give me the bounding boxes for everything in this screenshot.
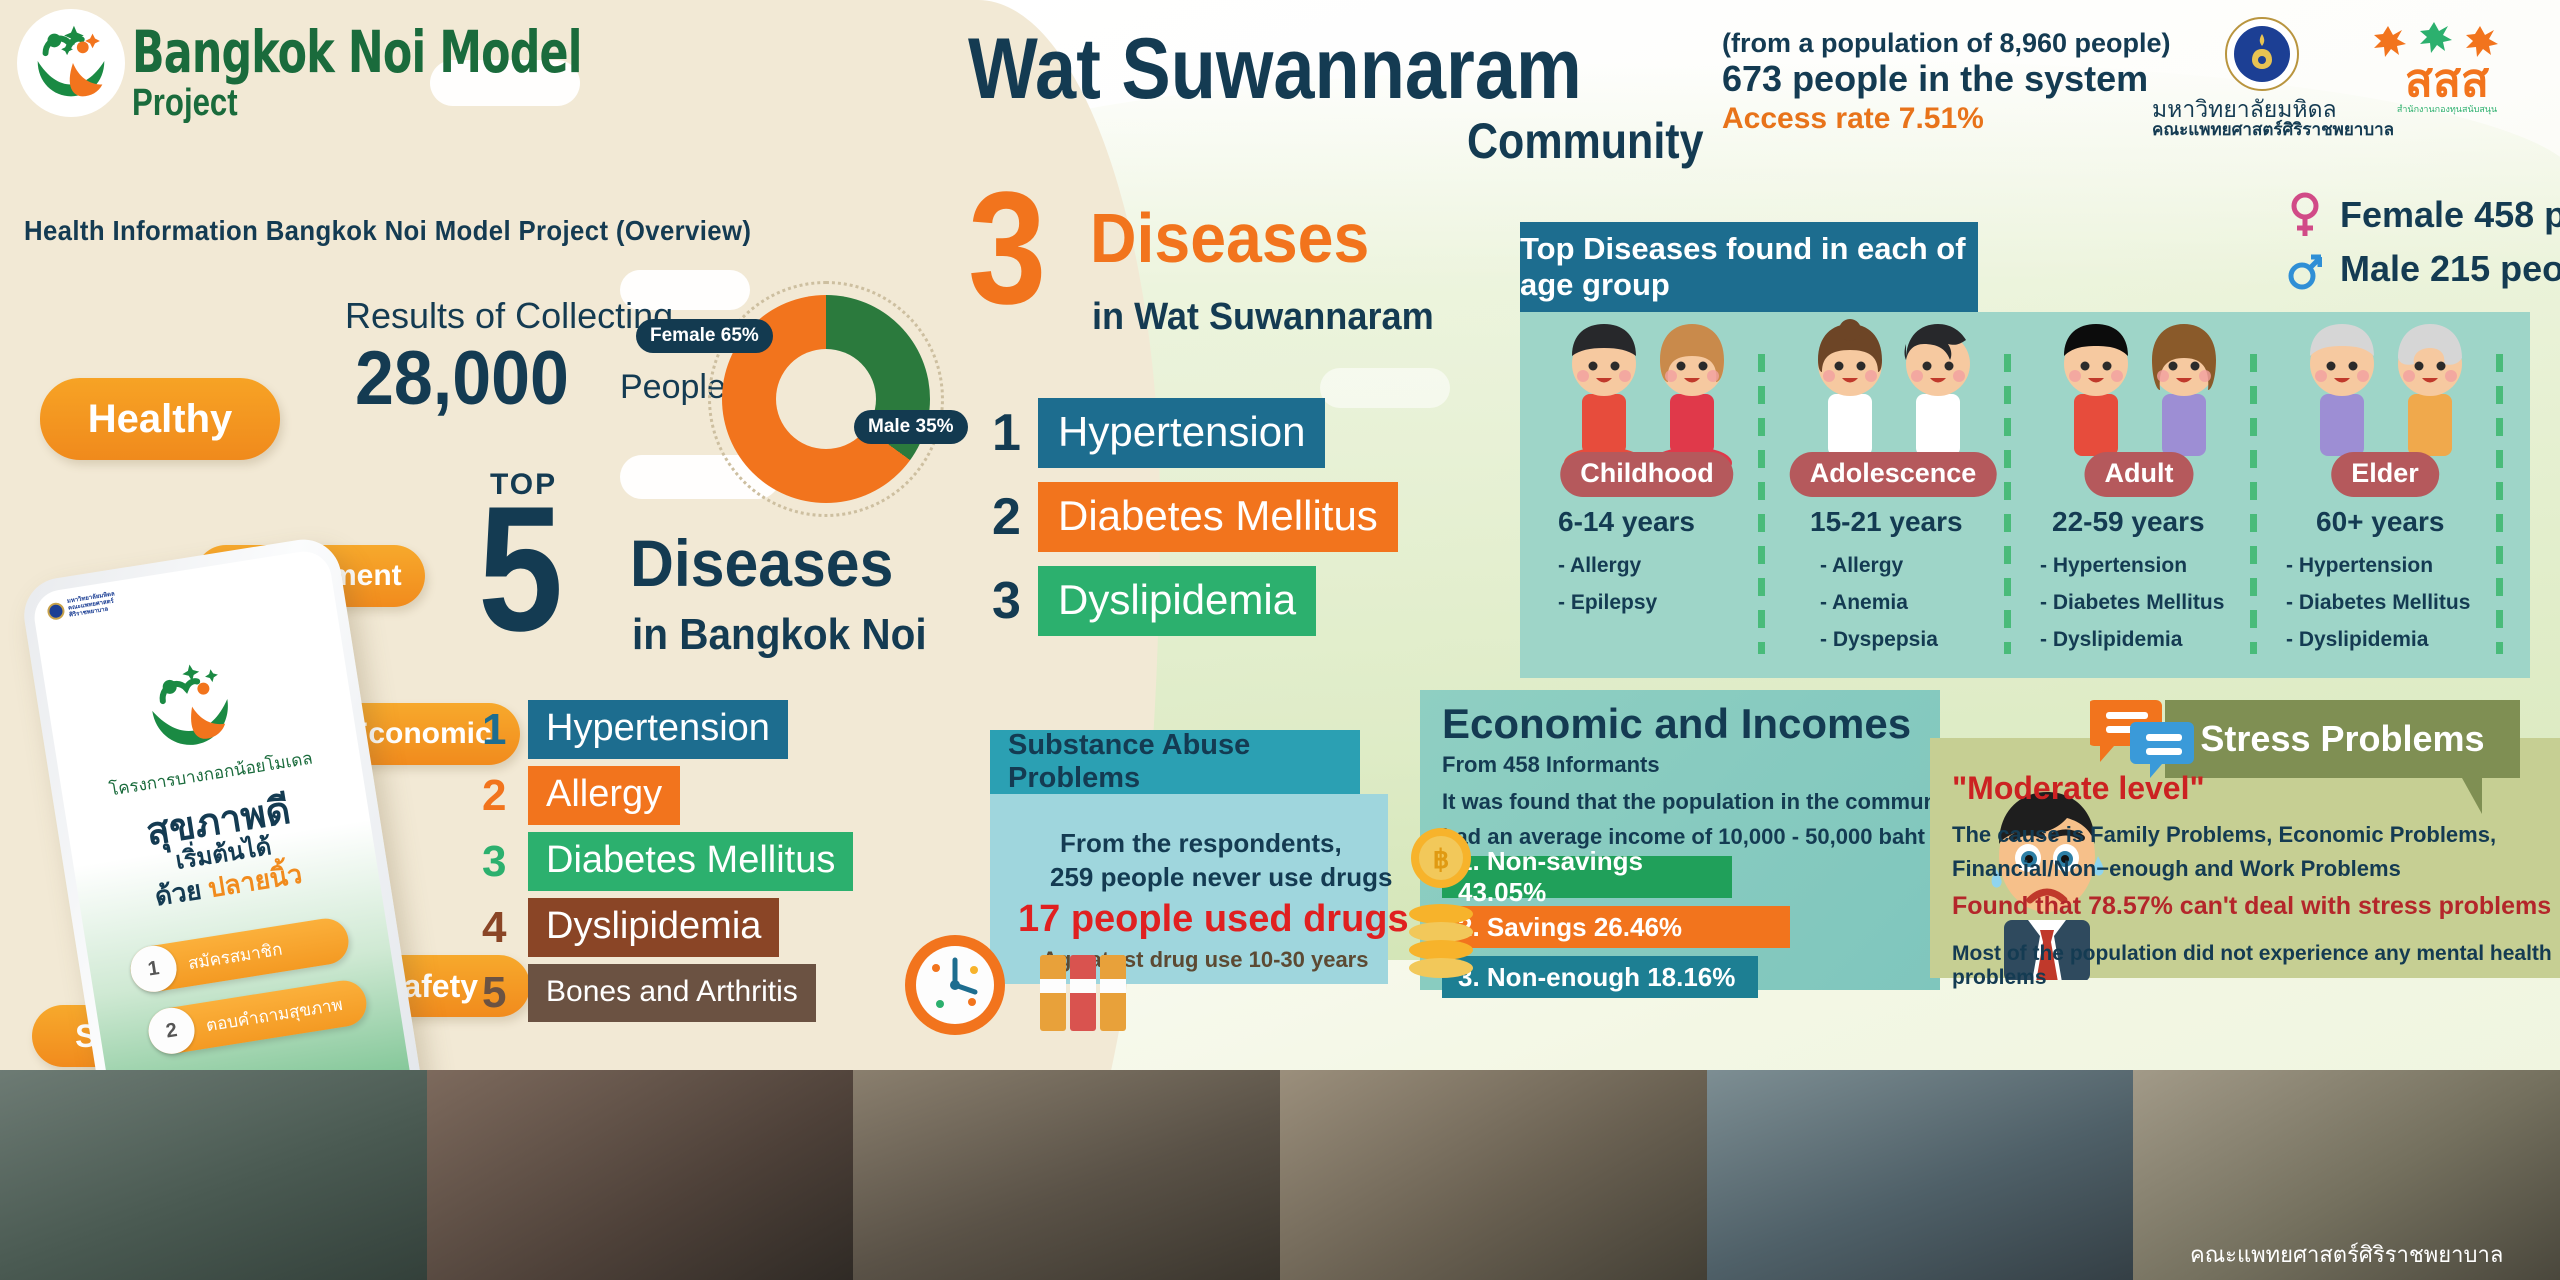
age-disease-item: - Dyslipidemia	[2286, 622, 2470, 659]
age-disease-item: - Dyspepsia	[1820, 622, 1938, 659]
age-column-childhood: Childhood 6-14 years - Allergy - Epileps…	[1534, 312, 1760, 678]
age-diseases-elder: - Hypertension - Diabetes Mellitus - Dys…	[2286, 548, 2470, 658]
economic-title: Economic and Incomes	[1442, 700, 1911, 748]
substance-line-1: From the respondents,	[1060, 828, 1342, 859]
age-disease-item: - Epilepsy	[1558, 585, 1657, 622]
three-diseases-label-3: Dyslipidemia	[1038, 566, 1316, 636]
economic-description: It was found that the population in the …	[1442, 784, 1963, 854]
svg-text:สำนักงานกองทุนสนับสนุน: สำนักงานกองทุนสนับสนุน	[2397, 104, 2497, 115]
three-diseases-item-2: 2 Diabetes Mellitus	[992, 482, 1398, 552]
substance-used-drugs: 17 people used drugs	[1018, 898, 1409, 941]
age-disease-item: - Hypertension	[2286, 548, 2470, 585]
male-gender-icon	[2288, 246, 2322, 292]
age-column-adolescence: Adolescence 15-21 years - Allergy - Anem…	[1780, 312, 2006, 678]
economic-informants: From 458 Informants	[1442, 752, 1660, 778]
access-rate: Access rate 7.51%	[1722, 102, 1984, 136]
svg-text:สสส: สสส	[2405, 54, 2490, 106]
phone-mahidol-logo-icon: มหาวิทยาลัยมหิดล คณะแพทยศาสตร์ ศิริราชพย…	[46, 591, 118, 623]
top5-rank-3: 3	[482, 837, 528, 887]
elder-figure-icon	[2282, 298, 2492, 478]
age-chip-adult: Adult	[2085, 452, 2194, 497]
folders-icon	[1036, 945, 1136, 1035]
coins-icon: ฿	[1396, 828, 1486, 988]
age-disease-item: - Anemia	[1820, 585, 1938, 622]
top5-label-5: Bones and Arthritis	[528, 964, 816, 1022]
photo-strip: คณะแพทยศาสตร์ศิริราชพยาบาล	[0, 1070, 2560, 1280]
top5-item-4: 4 Dyslipidemia	[482, 898, 779, 957]
top5-heading: Diseases	[630, 525, 893, 601]
age-column-elder: Elder 60+ years - Hypertension - Diabete…	[2272, 312, 2498, 678]
stress-banner-tail	[2462, 778, 2482, 814]
pill-healthy: Healthy	[40, 378, 280, 460]
population-note: (from a population of 8,960 people)	[1722, 28, 2171, 59]
female-gender-icon	[2288, 192, 2322, 238]
clock-icon	[900, 930, 1010, 1040]
photo-community-4	[1280, 1070, 1707, 1280]
photo-community-3	[853, 1070, 1280, 1280]
age-disease-item: - Allergy	[1820, 548, 1938, 585]
infographic-root: Bangkok Noi Model Project Health Informa…	[0, 0, 2560, 1280]
age-chip-adolescence: Adolescence	[1790, 452, 1997, 497]
economic-desc-line-1: It was found that the population in the …	[1442, 784, 1963, 819]
phone-project-logo-icon	[133, 649, 267, 765]
three-diseases-heading: Diseases	[1090, 198, 1369, 278]
age-group-panel: Childhood 6-14 years - Allergy - Epileps…	[1520, 312, 2530, 678]
donut-label-female: Female 65%	[636, 319, 773, 353]
people-in-system: 673 people in the system	[1722, 58, 2148, 100]
wat-suwannaram-title: Wat Suwannaram	[968, 20, 1582, 119]
mahidol-faculty-name: คณะแพทยศาสตร์ศิริราชพยาบาล	[2152, 116, 2394, 143]
top5-label-3: Diabetes Mellitus	[528, 832, 853, 891]
photo-community-1	[0, 1070, 427, 1280]
top5-item-3: 3 Diabetes Mellitus	[482, 832, 853, 891]
age-diseases-adolescence: - Allergy - Anemia - Dyspepsia	[1820, 548, 1938, 658]
substance-abuse-banner: Substance Abuse Problems	[990, 730, 1360, 794]
stress-level: "Moderate level"	[1952, 770, 2205, 807]
photo-community-6: คณะแพทยศาสตร์ศิริราชพยาบาล	[2133, 1070, 2560, 1280]
age-disease-item: - Allergy	[1558, 548, 1657, 585]
top5-item-2: 2 Allergy	[482, 766, 680, 825]
collecting-number: 28,000	[355, 335, 569, 422]
three-diseases-rank-2: 2	[992, 487, 1038, 547]
top5-label-2: Allergy	[528, 766, 680, 825]
age-chip-elder: Elder	[2331, 452, 2439, 497]
age-diseases-adult: - Hypertension - Diabetes Mellitus - Dys…	[2040, 548, 2224, 658]
age-range-adult: 22-59 years	[2052, 506, 2205, 538]
top5-rank-5: 5	[482, 968, 528, 1018]
childhood-figure-icon	[1544, 298, 1754, 478]
stress-cause-line-2: Financial/Non−enough and Work Problems	[1952, 852, 2496, 886]
three-diseases-item-3: 3 Dyslipidemia	[992, 566, 1316, 636]
stress-cause-line-1: The cause is Family Problems, Economic P…	[1952, 818, 2496, 852]
top5-item-5: 5 Bones and Arthritis	[482, 964, 816, 1022]
gender-donut-chart: Female 65% Male 35%	[722, 295, 930, 503]
phone-step-2-number: 2	[145, 1005, 198, 1058]
stress-found-stat: Found that 78.57% can't deal with stress…	[1952, 892, 2551, 921]
phone-headline-3-prefix: ด้วย	[153, 875, 204, 912]
phone-step-1-label: สมัครสมาชิก	[174, 935, 284, 978]
phone-step-1-number: 1	[127, 943, 180, 996]
top5-rank-4: 4	[482, 903, 528, 953]
top5-rank-1: 1	[482, 705, 528, 755]
age-chip-childhood: Childhood	[1560, 452, 1733, 497]
top5-rank-2: 2	[482, 771, 528, 821]
gender-female-row: Female 458 people	[2288, 192, 2560, 238]
age-column-adult: Adult 22-59 years - Hypertension - Diabe…	[2026, 312, 2252, 678]
top5-label-4: Dyslipidemia	[528, 898, 779, 957]
donut-label-male: Male 35%	[854, 410, 968, 444]
cloud-decoration	[1320, 368, 1450, 408]
phone-headline-3-accent: ปลายนิ้ว	[206, 859, 304, 903]
three-diseases-item-1: 1 Hypertension	[992, 398, 1325, 468]
photo-community-2	[427, 1070, 854, 1280]
age-disease-item: - Dyslipidemia	[2040, 622, 2224, 659]
age-disease-item: - Hypertension	[2040, 548, 2224, 585]
svg-text:฿: ฿	[1433, 844, 1450, 874]
three-diseases-label-2: Diabetes Mellitus	[1038, 482, 1398, 552]
three-diseases-big-number: 3	[968, 176, 1046, 320]
three-diseases-label-1: Hypertension	[1038, 398, 1325, 468]
wat-suwannaram-subtitle: Community	[1467, 112, 1704, 170]
age-disease-item: - Diabetes Mellitus	[2040, 585, 2224, 622]
brand-subtitle: Project	[132, 82, 238, 125]
age-range-childhood: 6-14 years	[1558, 506, 1695, 538]
stress-cause: The cause is Family Problems, Economic P…	[1952, 818, 2496, 886]
mahidol-university-logo-icon	[2224, 16, 2300, 92]
phone-step-2-button[interactable]: 2 ตอบคำถามสุขภาพ	[145, 977, 369, 1057]
photo-community-5	[1707, 1070, 2134, 1280]
gender-male-row: Male 215 people	[2288, 246, 2560, 292]
substance-line-2: 259 people never use drugs	[1050, 862, 1392, 893]
female-count-label: Female 458 people	[2340, 194, 2560, 236]
thaihealth-sss-logo-icon: สสส สำนักงานกองทุนสนับสนุน	[2372, 16, 2522, 116]
brand-tagline: Health Information Bangkok Noi Model Pro…	[24, 215, 751, 247]
top5-big-number: 5	[478, 487, 563, 651]
adolescence-figure-icon	[1790, 298, 2000, 478]
photo-caption-thai: คณะแพทยศาสตร์ศิริราชพยาบาล	[2190, 1237, 2503, 1272]
three-diseases-rank-1: 1	[992, 403, 1038, 463]
phone-step-2-label: ตอบคำถามสุขภาพ	[192, 990, 344, 1040]
top5-label-1: Hypertension	[528, 700, 788, 759]
economic-bar-2: 2. Savings 26.46%	[1442, 906, 1790, 948]
age-disease-item: - Diabetes Mellitus	[2286, 585, 2470, 622]
top5-item-1: 1 Hypertension	[482, 700, 788, 759]
brand-title: Bangkok Noi Model	[132, 18, 582, 86]
stress-banner: Stress Problems	[2165, 700, 2520, 778]
three-diseases-rank-3: 3	[992, 571, 1038, 631]
bangkok-noi-model-logo-icon	[22, 14, 120, 112]
age-range-adolescence: 15-21 years	[1810, 506, 1963, 538]
male-count-label: Male 215 people	[2340, 248, 2560, 290]
three-diseases-subheading: in Wat Suwannaram	[1092, 296, 1434, 339]
age-diseases-childhood: - Allergy - Epilepsy	[1558, 548, 1657, 622]
stress-mental-health-note: Most of the population did not experienc…	[1952, 942, 2560, 990]
top5-subheading: in Bangkok Noi	[632, 610, 927, 660]
collecting-title: Results of Collecting	[345, 295, 673, 337]
age-range-elder: 60+ years	[2316, 506, 2444, 538]
economic-bar-3: 3. Non-enough 18.16%	[1442, 956, 1758, 998]
adult-figure-icon	[2036, 298, 2246, 478]
